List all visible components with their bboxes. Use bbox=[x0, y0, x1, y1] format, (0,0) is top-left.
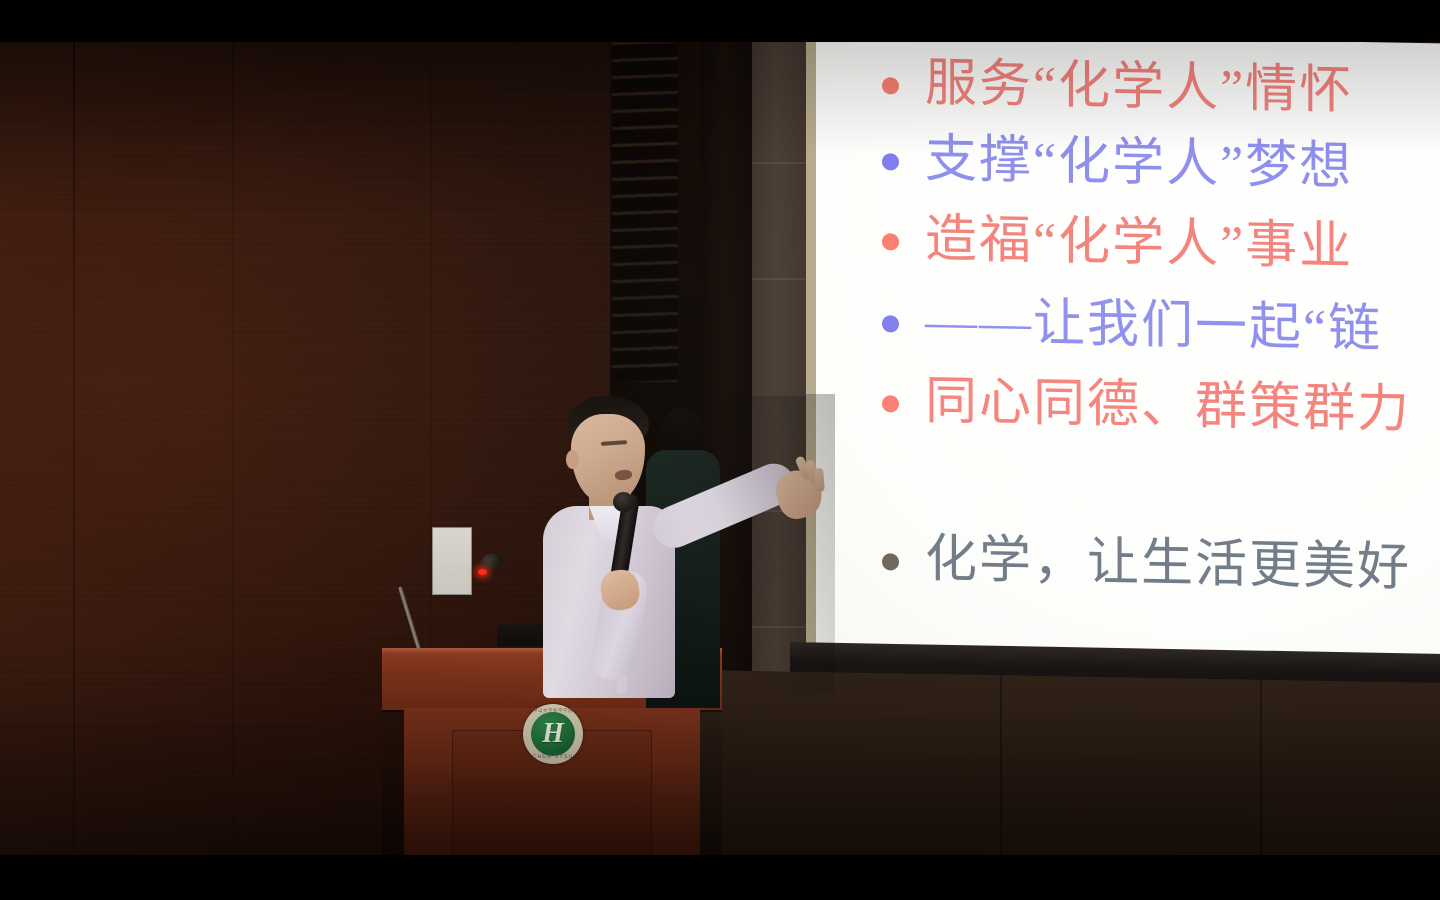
slide-line: 造福“化学人”事业 bbox=[882, 213, 1353, 274]
projection-screen: 服务“化学人”情怀 支撑“化学人”梦想 造福“化学人”事业 ——让我们一起“链 bbox=[816, 42, 1440, 672]
slide-bullet-icon bbox=[882, 77, 899, 94]
slide-line-text: 化学，让生活更美好 bbox=[925, 534, 1411, 595]
speaker-finger bbox=[814, 468, 825, 493]
presentation-slide: 服务“化学人”情怀 支撑“化学人”梦想 造福“化学人”事业 ——让我们一起“链 bbox=[816, 42, 1440, 672]
slide-line: 服务“化学人”情怀 bbox=[882, 57, 1353, 118]
slide-line-text: 支撑“化学人”梦想 bbox=[925, 134, 1353, 194]
slide-line-text: ——让我们一起“链 bbox=[925, 296, 1382, 356]
speaker-person bbox=[505, 394, 835, 694]
microphone-led-icon bbox=[478, 569, 487, 575]
slide-line-text: 造福“化学人”事业 bbox=[925, 214, 1353, 274]
slide-line-text: 同心同德、群策群力 bbox=[925, 376, 1411, 437]
acoustic-grill bbox=[612, 42, 678, 382]
stone-joint bbox=[752, 278, 814, 280]
speaker-ear bbox=[566, 450, 579, 469]
emblem-disc: H bbox=[531, 712, 575, 756]
podium-emblem: 中山大学化学学院 H CHEM SYSU bbox=[523, 704, 583, 764]
emblem-bottom-text: CHEM SYSU bbox=[523, 754, 583, 760]
slide-line: 同心同德、群策群力 bbox=[882, 375, 1411, 437]
slide-line-text: 服务“化学人”情怀 bbox=[925, 58, 1353, 118]
slide-bullet-icon bbox=[882, 395, 899, 412]
speaker-raised-arm bbox=[647, 457, 801, 554]
slide-line: 化学，让生活更美好 bbox=[882, 533, 1411, 595]
slide-bullet-icon bbox=[882, 233, 899, 250]
slide-line: 支撑“化学人”梦想 bbox=[882, 133, 1353, 194]
letterbox-top bbox=[0, 0, 1440, 42]
stone-joint bbox=[752, 162, 814, 164]
slide-bullet-icon bbox=[882, 153, 899, 170]
slide-bullet-icon bbox=[882, 553, 899, 570]
screenshot-frame: 服务“化学人”情怀 支撑“化学人”梦想 造福“化学人”事业 ——让我们一起“链 bbox=[0, 0, 1440, 900]
emblem-glyph-icon: H bbox=[542, 720, 564, 748]
lecture-hall-scene: 服务“化学人”情怀 支撑“化学人”梦想 造福“化学人”事业 ——让我们一起“链 bbox=[0, 42, 1440, 855]
lower-wall-below-screen bbox=[700, 670, 1440, 855]
letterbox-bottom bbox=[0, 855, 1440, 900]
slide-bullet-icon bbox=[882, 315, 899, 332]
wall-mounted-call-unit[interactable]: WiFi 紧急呼叫 bbox=[432, 527, 472, 595]
speaker-head bbox=[571, 414, 645, 502]
slide-line: ——让我们一起“链 bbox=[882, 295, 1382, 356]
